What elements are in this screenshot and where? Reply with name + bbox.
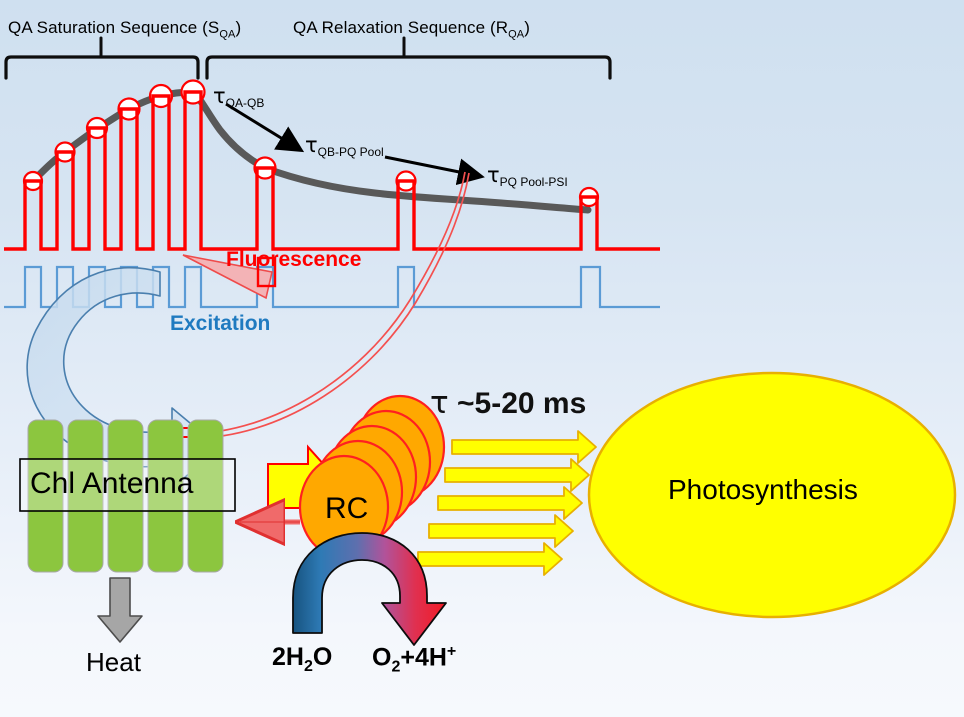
bracket-relaxation: [207, 38, 610, 78]
oxygen-prefix: O: [372, 643, 391, 671]
label-chl-antenna: Chl Antenna: [30, 467, 193, 501]
water-splitting-arrow: [293, 533, 446, 645]
envelope-markers: [24, 81, 598, 207]
heat-arrow: [98, 578, 142, 642]
water-suffix: O: [313, 643, 332, 671]
flux-arrow: [429, 515, 573, 547]
label-tau-time-constant: τ ~5-20 ms: [430, 385, 586, 421]
water-subscript: 2: [304, 658, 313, 675]
label-oxygen-product: O2+4H+: [372, 643, 456, 676]
label-reaction-center: RC: [325, 492, 368, 526]
label-excitation: Excitation: [170, 312, 270, 336]
fluorescence-envelope-curve: [33, 92, 588, 210]
label-photosynthesis: Photosynthesis: [668, 474, 858, 506]
fluorescence-trace: [4, 92, 660, 249]
flux-arrow: [445, 459, 589, 491]
flux-arrow: [418, 543, 562, 575]
label-heat: Heat: [86, 647, 141, 678]
red-feedback-curve: [190, 172, 469, 438]
label-water-reactant: 2H2O: [272, 643, 332, 676]
bracket-saturation: [6, 38, 198, 78]
oxygen-mid: +4H: [400, 643, 447, 671]
oxygen-superscript: +: [447, 643, 456, 660]
flux-arrow: [452, 431, 596, 463]
water-prefix: 2H: [272, 643, 304, 671]
tau-time-value: ~5-20 ms: [457, 387, 586, 420]
diagram-vector-layer: [0, 0, 964, 717]
tau-symbol: τ: [430, 385, 449, 421]
diagram-canvas: QA Saturation Sequence (SQA) QA Relaxati…: [0, 0, 964, 717]
flux-arrow: [438, 487, 582, 519]
label-fluorescence: Fluorescence: [226, 248, 361, 272]
tau-qa-qb-arrow: [226, 104, 299, 149]
